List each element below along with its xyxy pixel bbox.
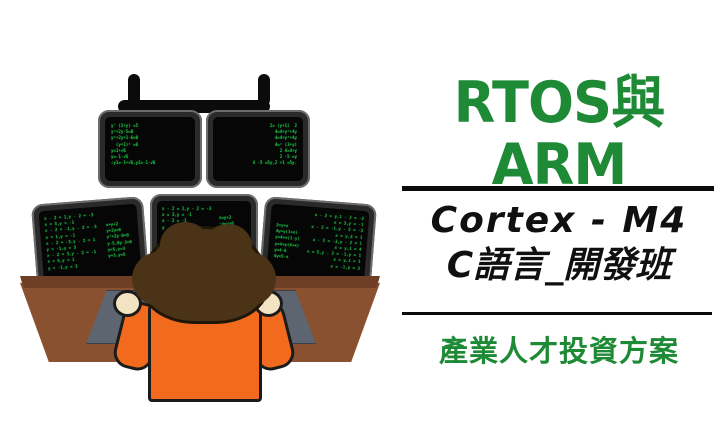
poster-canvas: y' (2+y) =5 y²+2y-5=0 y²+2y+1-6=0 (y+1)²… (0, 0, 722, 443)
course-text-block: RTOS與ARM Cortex - M4 C語言_開發班 產業人才投資方案 (396, 0, 722, 443)
course-title: RTOS與ARM (404, 72, 714, 196)
screen-top-right: 2= (y+1) 2 4=4+y²+4y 4=4+y²+4y 4=² (3+y)… (213, 117, 303, 181)
monitor-top-left: y' (2+y) =5 y²+2y-5=0 y²+2y+1-6=0 (y+1)²… (98, 110, 202, 188)
course-subtitle-chinese: C語言_開發班 (396, 244, 722, 288)
person-hair-tuft (160, 222, 210, 268)
code-text: x - 2 = 1,y - 2 = -3 x = 3,y = -1 x - 2 … (44, 212, 100, 272)
divider-top (402, 186, 714, 191)
workstation-illustration: y' (2+y) =5 y²+2y-5=0 y²+2y+1-6=0 (y+1)²… (0, 0, 400, 443)
screen-bottom-right: 2=y+x 4y=y(1+x) y=4+x(1-y) y=4+y(4+x) y=… (266, 204, 369, 283)
screen-top-left: y' (2+y) =5 y²+2y-5=0 y²+2y+1-6=0 (y+1)²… (105, 117, 195, 181)
code-text: x - 2 = y,1 - 2 = -2 x = 3,y = -1 x - 2 … (306, 212, 364, 272)
monitor-top-right: 2= (y+1) 2 4=4+y²+4y 4=4+y²+4y 4=² (3+y)… (206, 110, 310, 188)
code-text: 2= (y+1) 2 4=4+y²+4y 4=4+y²+4y 4=² (3+y)… (253, 123, 297, 166)
person-hair-tuft (204, 224, 252, 268)
code-text: 2=y+x 4y=y(1+x) y=4+x(1-y) y=4+y(4+x) y=… (273, 222, 301, 261)
divider-bottom (402, 312, 712, 315)
code-text: x=y+2 y+2y=6 y²+2y-8=0 y-5,0y-3=0 y=5,y=… (106, 220, 134, 259)
code-text: y' (2+y) =5 y²+2y-5=0 y²+2y+1-6=0 (y+1)²… (111, 123, 155, 166)
course-subtitle-english: Cortex - M4 (396, 200, 722, 242)
screen-bottom-left: x - 2 = 1,y - 2 = -3 x = 3,y = -1 x - 2 … (38, 204, 141, 283)
course-tagline: 產業人才投資方案 (396, 332, 722, 370)
